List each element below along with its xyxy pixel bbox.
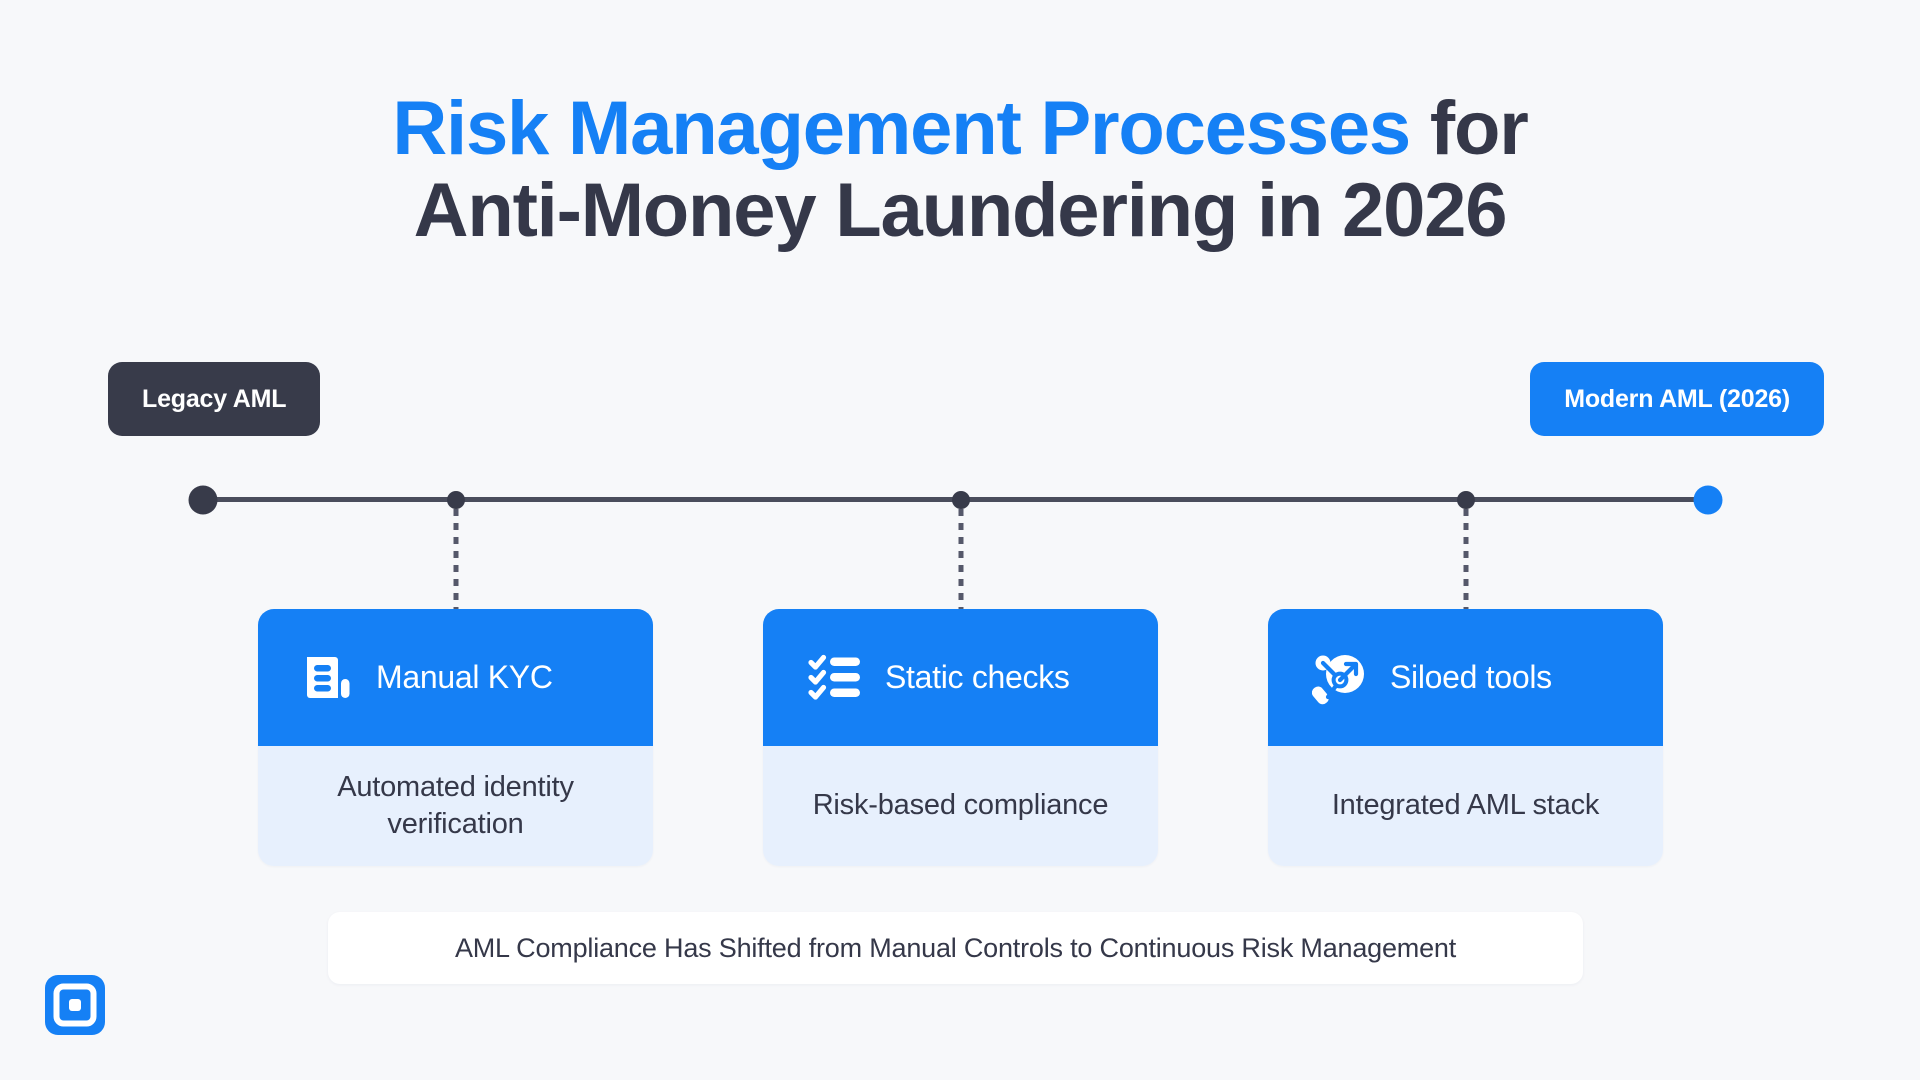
timeline-connector-2: [959, 509, 964, 609]
infographic-canvas: Risk Management Processes for Anti-Money…: [0, 0, 1920, 1080]
card-body: Automated identity verification: [258, 746, 653, 866]
network-arrow-icon: [1312, 650, 1368, 706]
timeline-milestone-dot-3: [1457, 491, 1475, 509]
card-title: Static checks: [885, 659, 1070, 696]
timeline-milestone-dot-1: [447, 491, 465, 509]
card-description: Risk-based compliance: [813, 787, 1109, 824]
card-header: Manual KYC: [258, 609, 653, 746]
page-title: Risk Management Processes for Anti-Money…: [0, 88, 1920, 252]
checklist-icon: [807, 650, 863, 706]
title-line-1-rest: for: [1410, 86, 1528, 171]
concentric-squares-logo[interactable]: [44, 974, 106, 1036]
document-form-icon: [298, 650, 354, 706]
timeline-milestone-dot-2: [952, 491, 970, 509]
title-line-2: Anti-Money Laundering in 2026: [0, 170, 1920, 252]
card-body: Integrated AML stack: [1268, 746, 1663, 866]
timeline-connector-3: [1464, 509, 1469, 609]
milestone-card-manual-kyc[interactable]: Manual KYC Automated identity verificati…: [258, 609, 653, 866]
timeline-connector-1: [454, 509, 459, 609]
card-description: Integrated AML stack: [1332, 787, 1599, 824]
timeline-start-dot: [189, 486, 218, 515]
card-description: Automated identity verification: [284, 769, 627, 843]
caption-bar: AML Compliance Has Shifted from Manual C…: [328, 912, 1583, 984]
milestone-card-siloed-tools[interactable]: Siloed tools Integrated AML stack: [1268, 609, 1663, 866]
card-header: Siloed tools: [1268, 609, 1663, 746]
title-line-1: Risk Management Processes for: [0, 88, 1920, 170]
card-header: Static checks: [763, 609, 1158, 746]
badge-modern-aml: Modern AML (2026): [1530, 362, 1824, 436]
caption-text: AML Compliance Has Shifted from Manual C…: [455, 933, 1456, 964]
title-accent-text: Risk Management Processes: [392, 86, 1410, 171]
card-title: Manual KYC: [376, 659, 553, 696]
timeline-end-dot: [1694, 486, 1723, 515]
card-body: Risk-based compliance: [763, 746, 1158, 866]
badge-legacy-aml: Legacy AML: [108, 362, 320, 436]
card-title: Siloed tools: [1390, 659, 1552, 696]
milestone-card-static-checks[interactable]: Static checks Risk-based compliance: [763, 609, 1158, 866]
